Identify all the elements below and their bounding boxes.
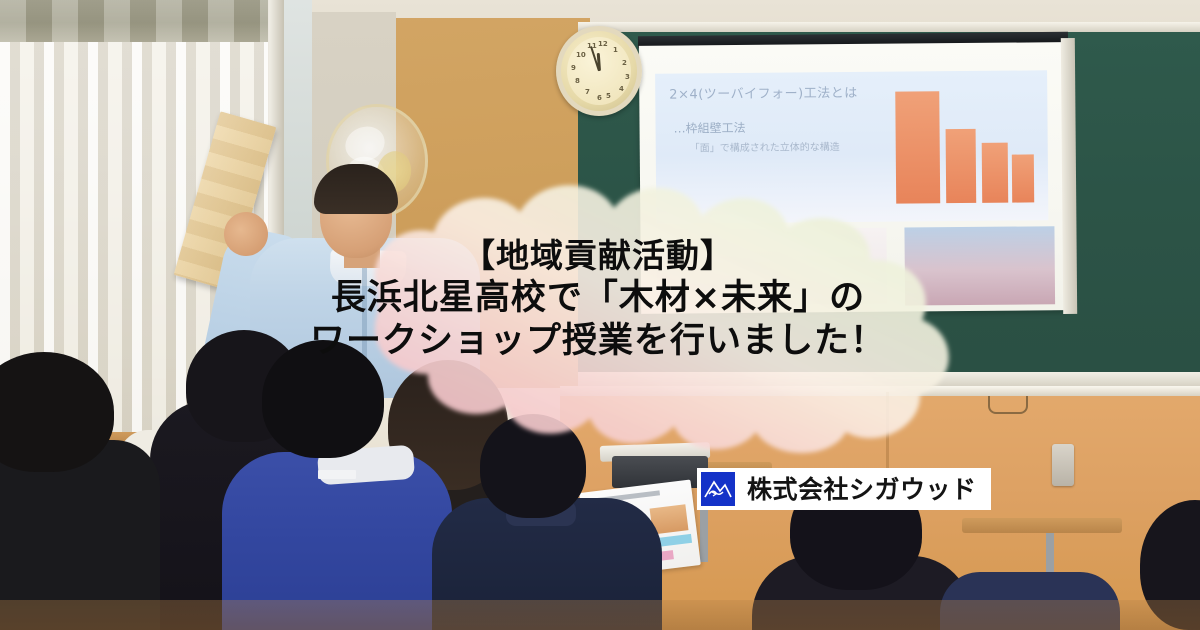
headline-line-3: ワークショップ授業を行いました！ <box>258 320 938 363</box>
slide-subtitle-1: …枠組壁工法 <box>673 119 745 137</box>
headline-line-2: 長浜北星高校で「木材×未来」の <box>258 277 938 320</box>
screen-side-rail <box>1061 38 1077 314</box>
mountain-logo-icon <box>701 472 735 506</box>
headline-line-1: 【地域貢献活動】 <box>258 236 938 277</box>
classroom-desk <box>962 518 1122 533</box>
company-badge: 株式会社シガウッド <box>697 468 991 510</box>
clock-face: 12 1 2 3 4 5 6 7 8 9 10 11 <box>567 37 631 105</box>
headline-text: 【地域貢献活動】 長浜北星高校で「木材×未来」の ワークショップ授業を行いました… <box>258 236 938 364</box>
slide-title: 2×4(ツーバイフォー)工法とは <box>669 82 858 103</box>
chalkboard-top-trim <box>578 22 1200 32</box>
wall-clock: 12 1 2 3 4 5 6 7 8 9 10 11 <box>556 26 642 116</box>
light-switch-plate <box>1052 444 1074 486</box>
slide-subtitle-2: 「面」で構成された立体的な構造 <box>690 138 840 154</box>
student-name-tag <box>318 470 356 479</box>
company-name: 株式会社シガウッド <box>747 477 977 502</box>
foreground-desk-edge <box>0 600 1200 630</box>
article-thumbnail-image: 2×4(ツーバイフォー)工法とは …枠組壁工法 「面」で構成された立体的な構造 … <box>0 0 1200 630</box>
curtain-valance <box>0 0 268 42</box>
